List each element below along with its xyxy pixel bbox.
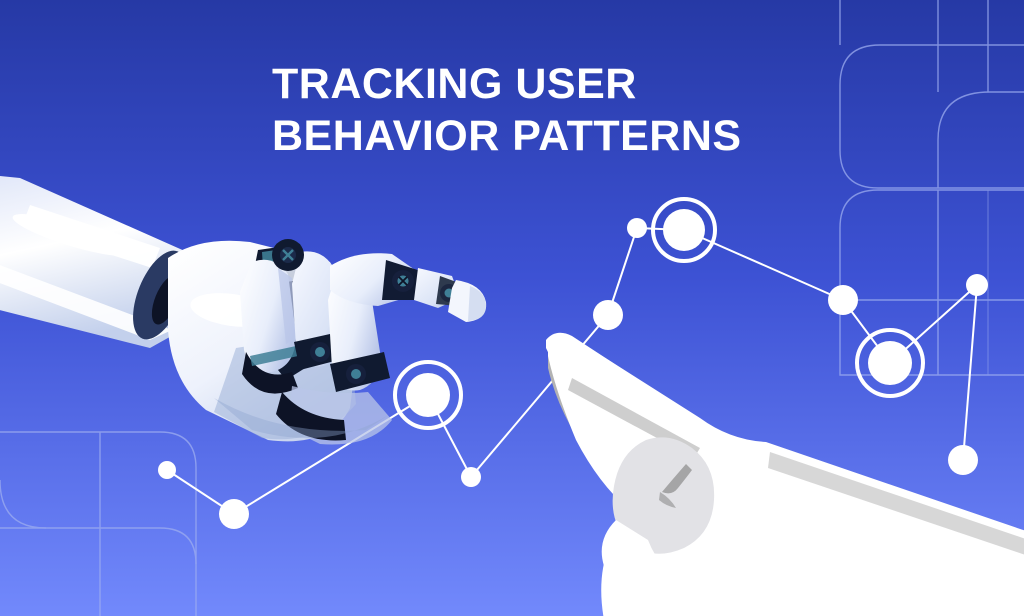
robot-joint-pivot-b-core [351, 369, 361, 379]
node-right-bottom [948, 445, 978, 475]
node-bottom-left-small [158, 461, 176, 479]
node-ring-left [406, 373, 450, 417]
node-right-small [966, 274, 988, 296]
illustration-canvas: TRACKING USER BEHAVIOR PATTERNS [0, 0, 1024, 616]
node-upper-small [627, 218, 647, 238]
node-bottom-left-large [219, 499, 249, 529]
robot-joint-pivot-a-core [315, 347, 325, 357]
node-center-small [461, 467, 481, 487]
node-center-mid [593, 300, 623, 330]
node-ring-right [868, 341, 912, 385]
node-right-mid [828, 285, 858, 315]
artwork-svg [0, 0, 1024, 616]
node-ring-top [663, 209, 705, 251]
